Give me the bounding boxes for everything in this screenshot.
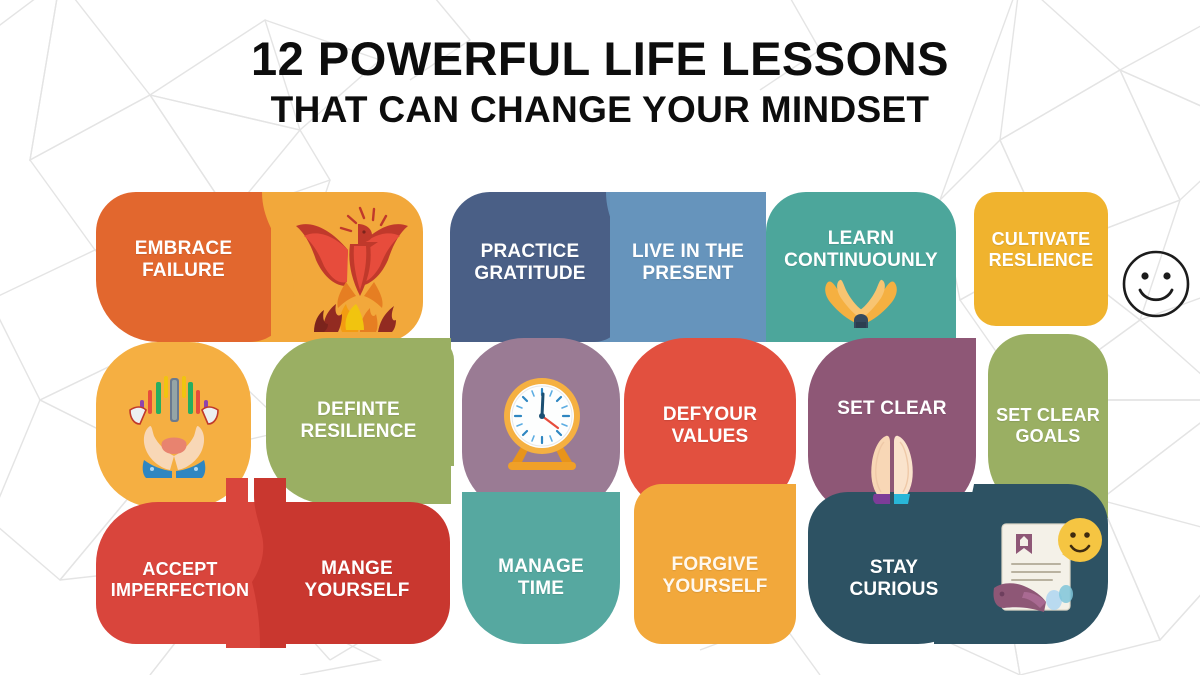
card-label-live-in-the-present: LIVE IN THE PRESENT [624, 241, 752, 284]
card-mange-yourself[interactable]: MANGE YOURSELF [264, 502, 450, 644]
page-subtitle: THAT CAN CHANGE YOUR MINDSET [0, 88, 1200, 132]
card-label-accept-imperfection: ACCEPT IMPERFECTION [103, 559, 257, 600]
card-label-embrace-failure: EMBRACE FAILURE [127, 238, 240, 281]
card-clock-panel[interactable] [462, 338, 620, 514]
card-label-defyour-values: DEFYOUR VALUES [655, 404, 765, 447]
lessons-board: EMBRACE FAILURE [96, 192, 1108, 644]
card-forgive-yourself[interactable]: FORGIVE YOURSELF [634, 484, 796, 644]
page-header: 12 POWERFUL LIFE LESSONS THAT CAN CHANGE… [0, 34, 1200, 131]
card-manage-time[interactable]: MANAGE TIME [462, 492, 620, 644]
card-label-mange-yourself: MANGE YOURSELF [296, 558, 417, 601]
card-cultivate-resilience[interactable]: CULTIVATE RESLIENCE [974, 192, 1108, 326]
card-label-definte-resilience: DEFINTE RESILIENCE [292, 399, 424, 442]
card-learn-continuously[interactable]: LEARN CONTINUOUNLY [766, 192, 956, 342]
card-label-set-clear: SET CLEAR [829, 398, 954, 420]
card-label-manage-time: MANAGE TIME [490, 556, 592, 599]
card-label-set-clear-goals: SET CLEAR GOALS [988, 405, 1108, 446]
card-label-practice-gratitude: PRACTICE GRATITUDE [466, 241, 593, 284]
card-label-forgive-yourself: FORGIVE YOURSELF [654, 554, 775, 597]
page-title: 12 POWERFUL LIFE LESSONS [0, 34, 1200, 84]
card-label-stay-curious: STAY CURIOUS [841, 557, 946, 600]
card-label-learn-continuously: LEARN CONTINUOUNLY [776, 228, 946, 271]
card-label-cultivate-resilience: CULTIVATE RESLIENCE [981, 229, 1102, 270]
